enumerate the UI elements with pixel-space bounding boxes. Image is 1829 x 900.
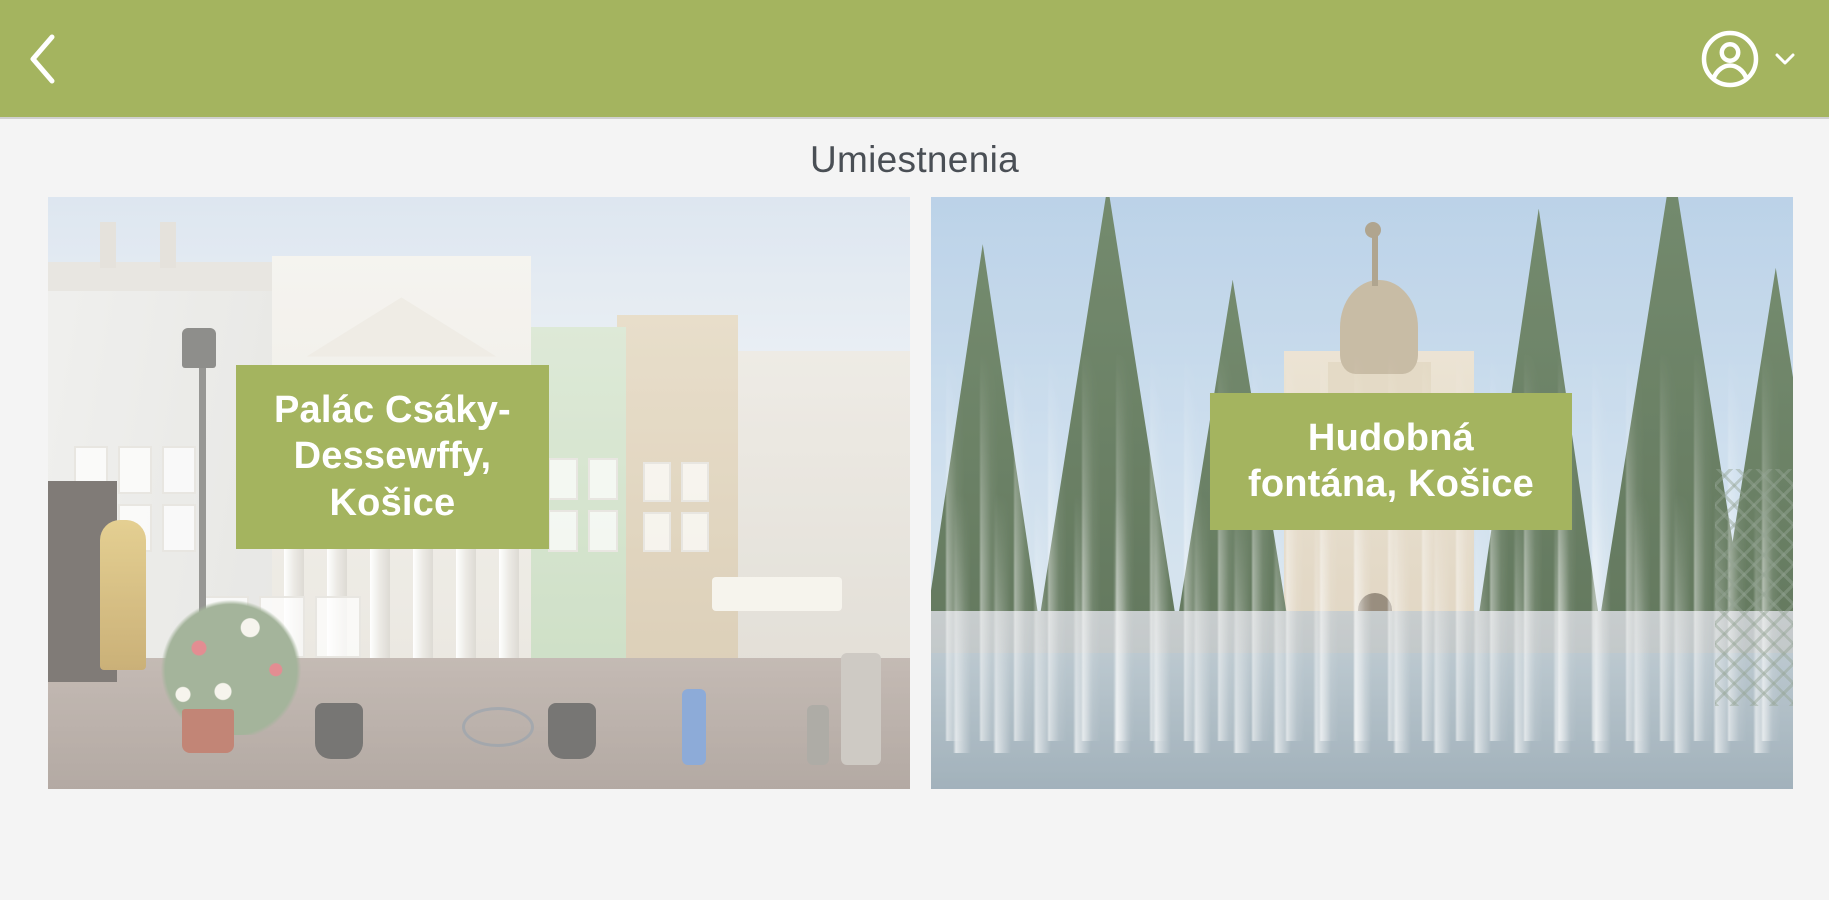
page-title: Umiestnenia [0, 119, 1829, 181]
back-button[interactable] [10, 27, 74, 91]
account-circle-icon [1699, 28, 1761, 90]
locations-grid: Palác Csáky- Dessewffy, Košice [0, 181, 1829, 789]
chevron-down-icon [1775, 52, 1795, 66]
location-card[interactable]: Palác Csáky- Dessewffy, Košice [48, 197, 910, 789]
account-menu-button[interactable] [1699, 28, 1801, 90]
chevron-left-icon [25, 32, 59, 86]
content-area: Umiestnenia [0, 117, 1829, 900]
location-label: Hudobná fontána, Košice [1210, 393, 1572, 530]
app-header [0, 0, 1829, 117]
location-label: Palác Csáky- Dessewffy, Košice [236, 365, 549, 549]
location-card[interactable]: Hudobná fontána, Košice [931, 197, 1793, 789]
